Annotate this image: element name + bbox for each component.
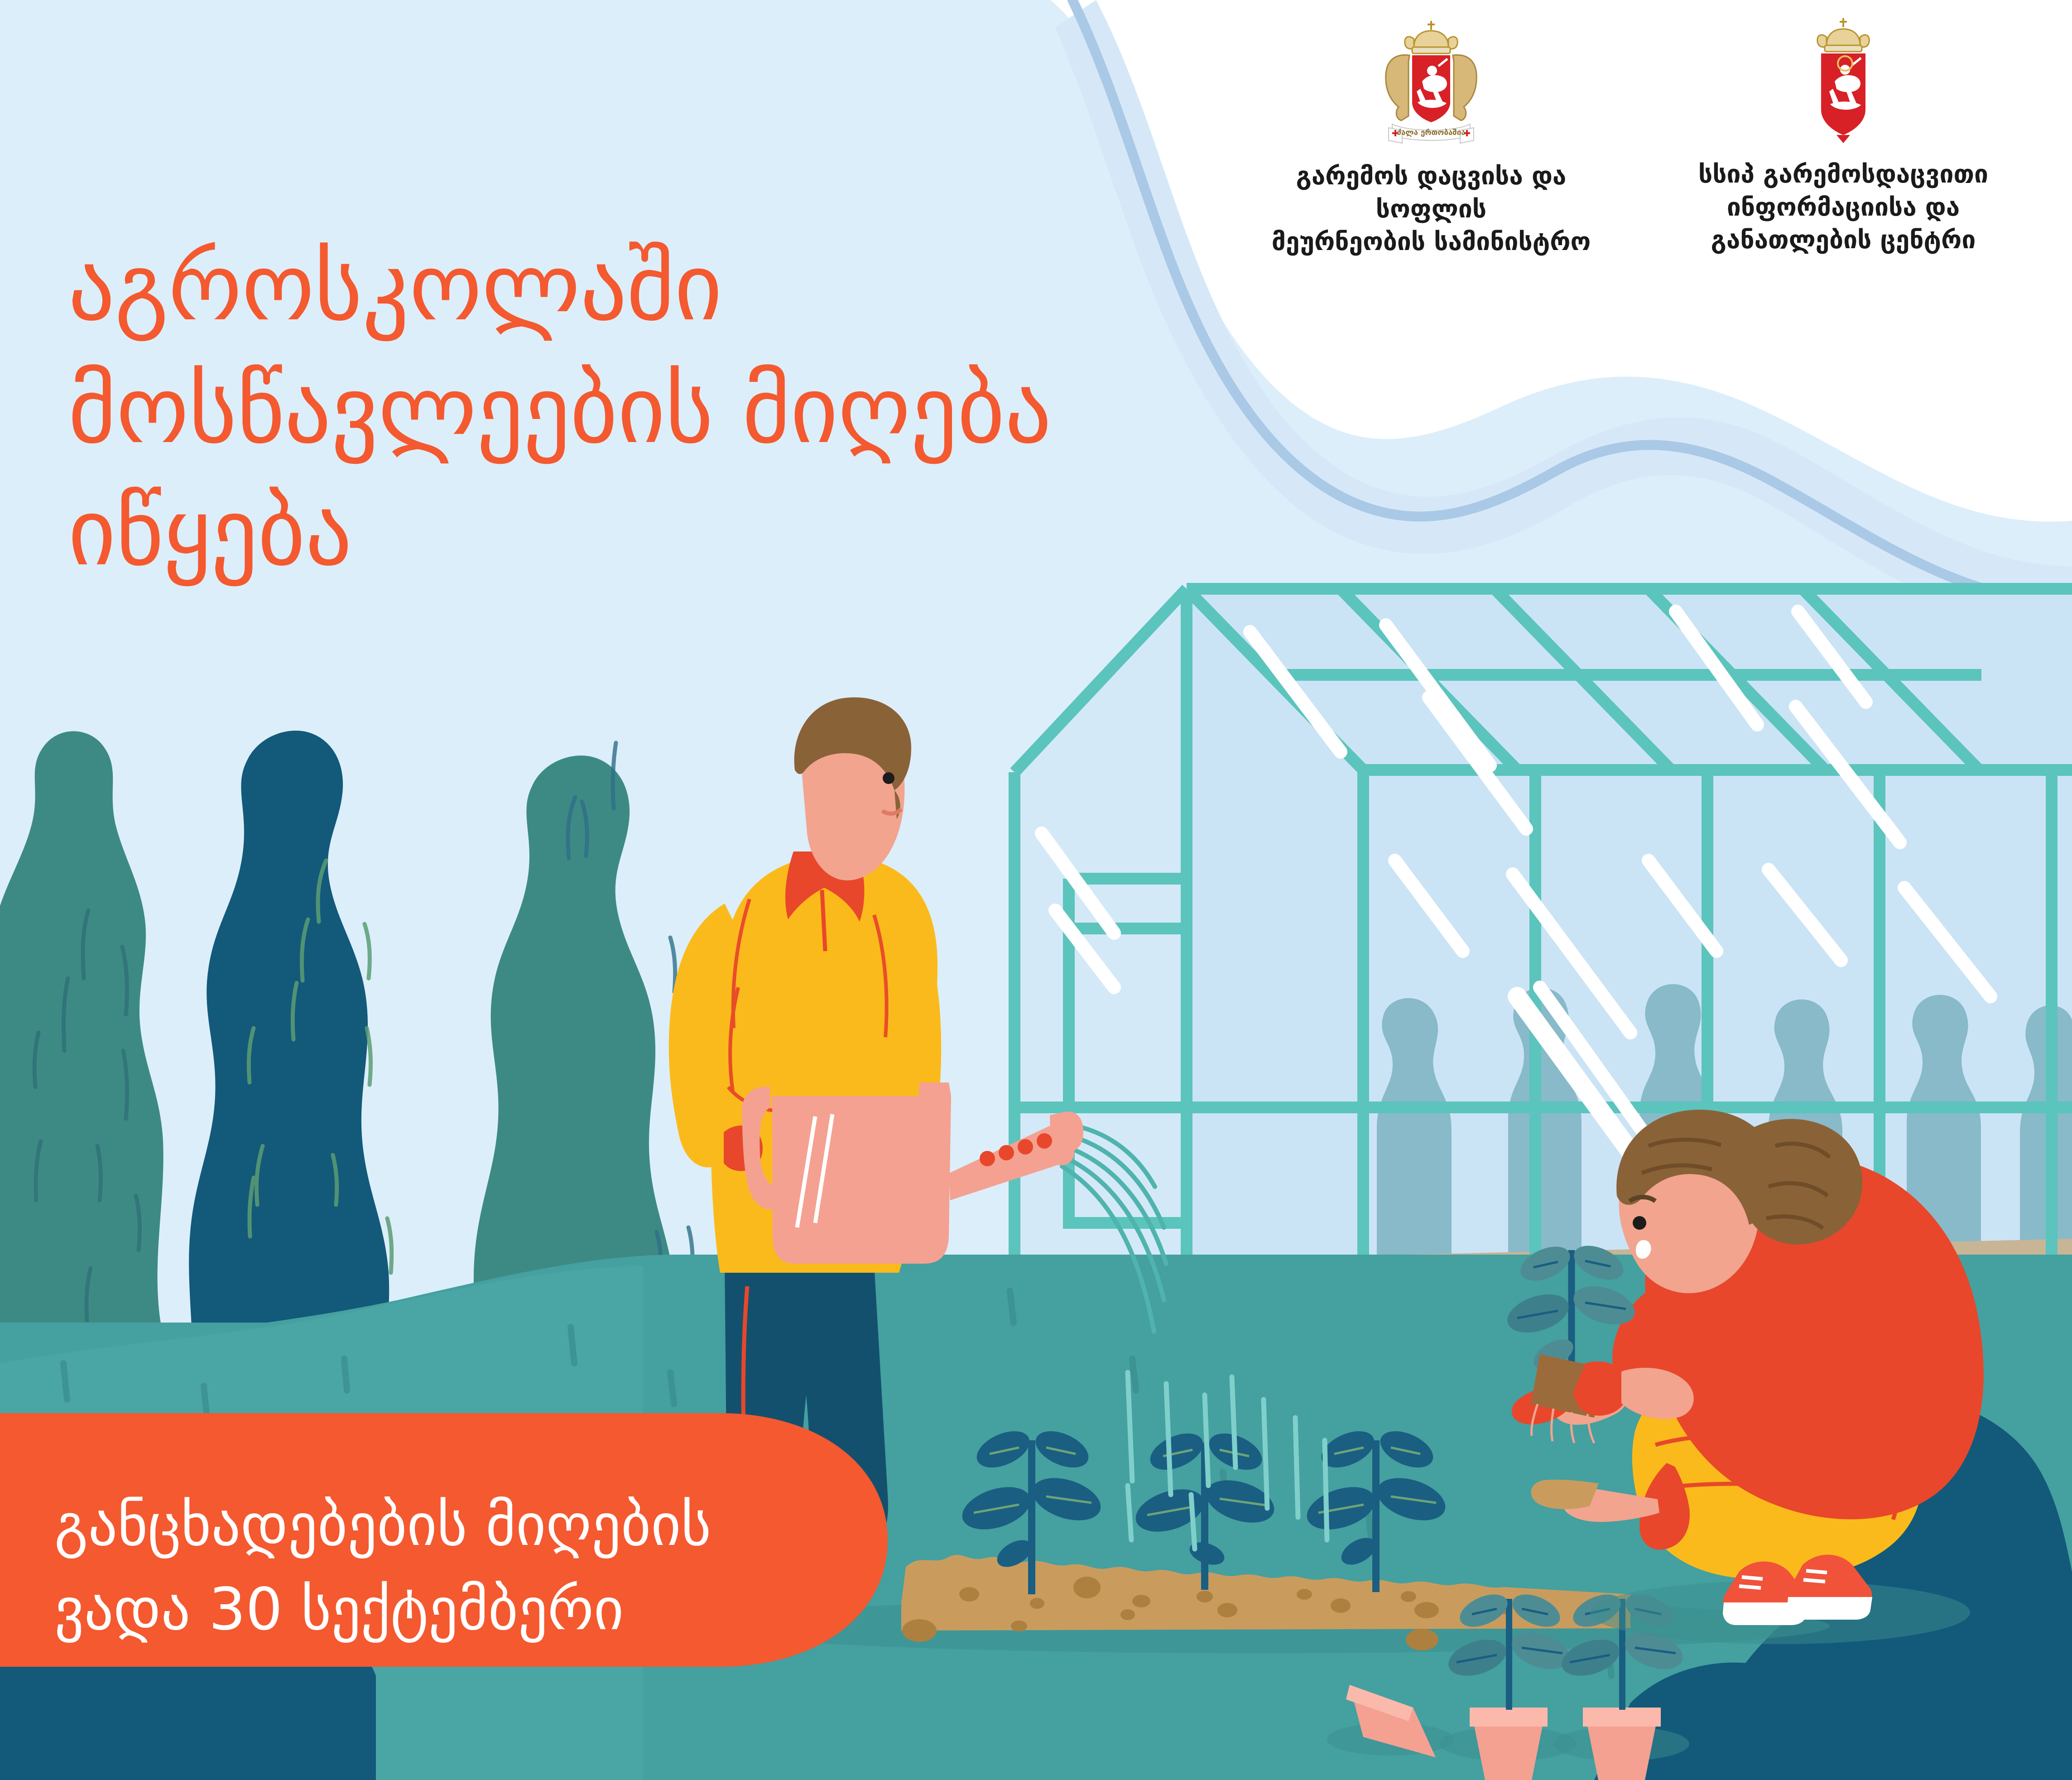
ministry-logo-caption: გარემოს დაცვისა და სოფლის მეურნეობის სამ…: [1243, 159, 1619, 258]
ministry-logo-block: ძალა ერთობაშია გარემოს დაცვისა და სოფლის…: [1243, 14, 1619, 258]
poster-canvas: აგროსკოლაში მოსწავლეების მიღება იწყება გ…: [0, 0, 2072, 1780]
deadline-banner-text: განცხადებების მიღების ვადა 30 სექტემბერი: [54, 1483, 824, 1651]
can-neck: [918, 1082, 951, 1096]
can-body: [772, 1096, 951, 1264]
eye: [1633, 1216, 1646, 1230]
bed-seedlings: [957, 1424, 1451, 1594]
can-rose: [1050, 1111, 1083, 1151]
eye: [883, 772, 894, 784]
svg-text:ძალა ერთობაშია: ძალა ერთობაშია: [1397, 128, 1465, 137]
georgia-coat-of-arms-icon: ძალა ერთობაშია: [1363, 14, 1499, 149]
center-logo-block: სსიპ გარემოსდაცვითი ინფორმაციისა და განა…: [1671, 14, 2015, 256]
soil-in-hand: [1531, 1480, 1599, 1509]
center-logo-caption: სსიპ გარემოსდაცვითი ინფორმაციისა და განა…: [1671, 158, 2015, 256]
page-headline: აგროსკოლაში მოსწავლეების მიღება იწყება: [68, 226, 1178, 594]
georgia-shield-emblem-icon: [1791, 14, 1895, 145]
